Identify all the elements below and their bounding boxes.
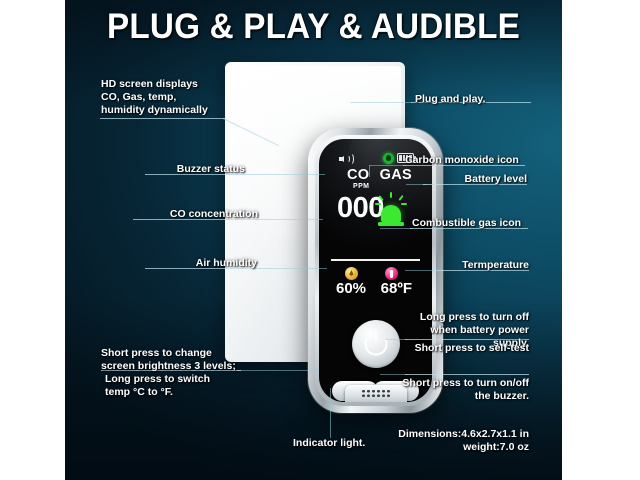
callout-buzzer: Buzzer status	[125, 163, 245, 176]
callout-brightness: Short press to change screen brightness …	[101, 347, 251, 373]
rule-hd-screen	[100, 118, 225, 119]
co-unit: PPM	[353, 183, 369, 190]
humidity-icon	[345, 267, 358, 280]
infographic-panel: PLUG & PLAY & AUDIBLE	[65, 0, 562, 480]
page-title: PLUG & PLAY & AUDIBLE	[77, 7, 549, 47]
carbon-monoxide-icon	[383, 153, 394, 164]
callout-co-icon: Carbon monoxide icon	[405, 154, 540, 167]
leader-humidity	[255, 268, 327, 269]
lcd-reading-row: 000	[331, 196, 420, 232]
rule-buzzer-press	[405, 374, 529, 375]
humidity-value: 60%	[336, 281, 366, 296]
callout-co-conc: CO concentration	[125, 208, 258, 221]
callout-temp-switch: Long press to switch temp °C to °F.	[105, 373, 255, 399]
leader-co-conc	[255, 219, 323, 220]
temperature-value: 68ºF	[381, 281, 412, 296]
screenshot-root: PLUG & PLAY & AUDIBLE	[0, 0, 640, 480]
leader-co-icon-stem	[369, 165, 370, 177]
callout-battery: Battery level	[405, 173, 527, 186]
leader-co-icon	[369, 165, 405, 166]
callout-temperature: Termperature	[415, 259, 529, 272]
leader-indicator-light	[330, 388, 331, 438]
leader-plug-and-play	[350, 102, 412, 103]
callout-plug-play: Plug and play.	[415, 93, 545, 106]
callout-hd-screen: HD screen displays CO, Gas, temp, humidi…	[101, 78, 231, 116]
callout-humidity: Air humidity	[125, 257, 257, 270]
power-button[interactable]	[352, 320, 400, 368]
leader-buzzer	[243, 174, 325, 175]
lcd-divider	[331, 259, 420, 261]
co-label: CO	[347, 168, 369, 183]
temperature-icon	[385, 267, 398, 280]
callout-buzzer-toggle: Short press to turn on/off the buzzer.	[395, 377, 529, 403]
callout-self-test: Short press to self-test	[395, 342, 529, 355]
callout-dimensions: Dimensions:4.6x2.7x1.1 in weight:7.0 oz	[395, 428, 529, 454]
lcd-bottom-row: 60% 68ºF	[319, 267, 432, 301]
combustible-gas-icon	[374, 192, 408, 226]
buzzer-icon	[339, 153, 352, 164]
callout-indicator-light: Indicator light.	[293, 437, 403, 450]
callout-gas-icon: Combustible gas icon	[412, 217, 542, 230]
leader-buzzer-press	[380, 374, 407, 375]
leader-gas-icon	[380, 228, 412, 229]
